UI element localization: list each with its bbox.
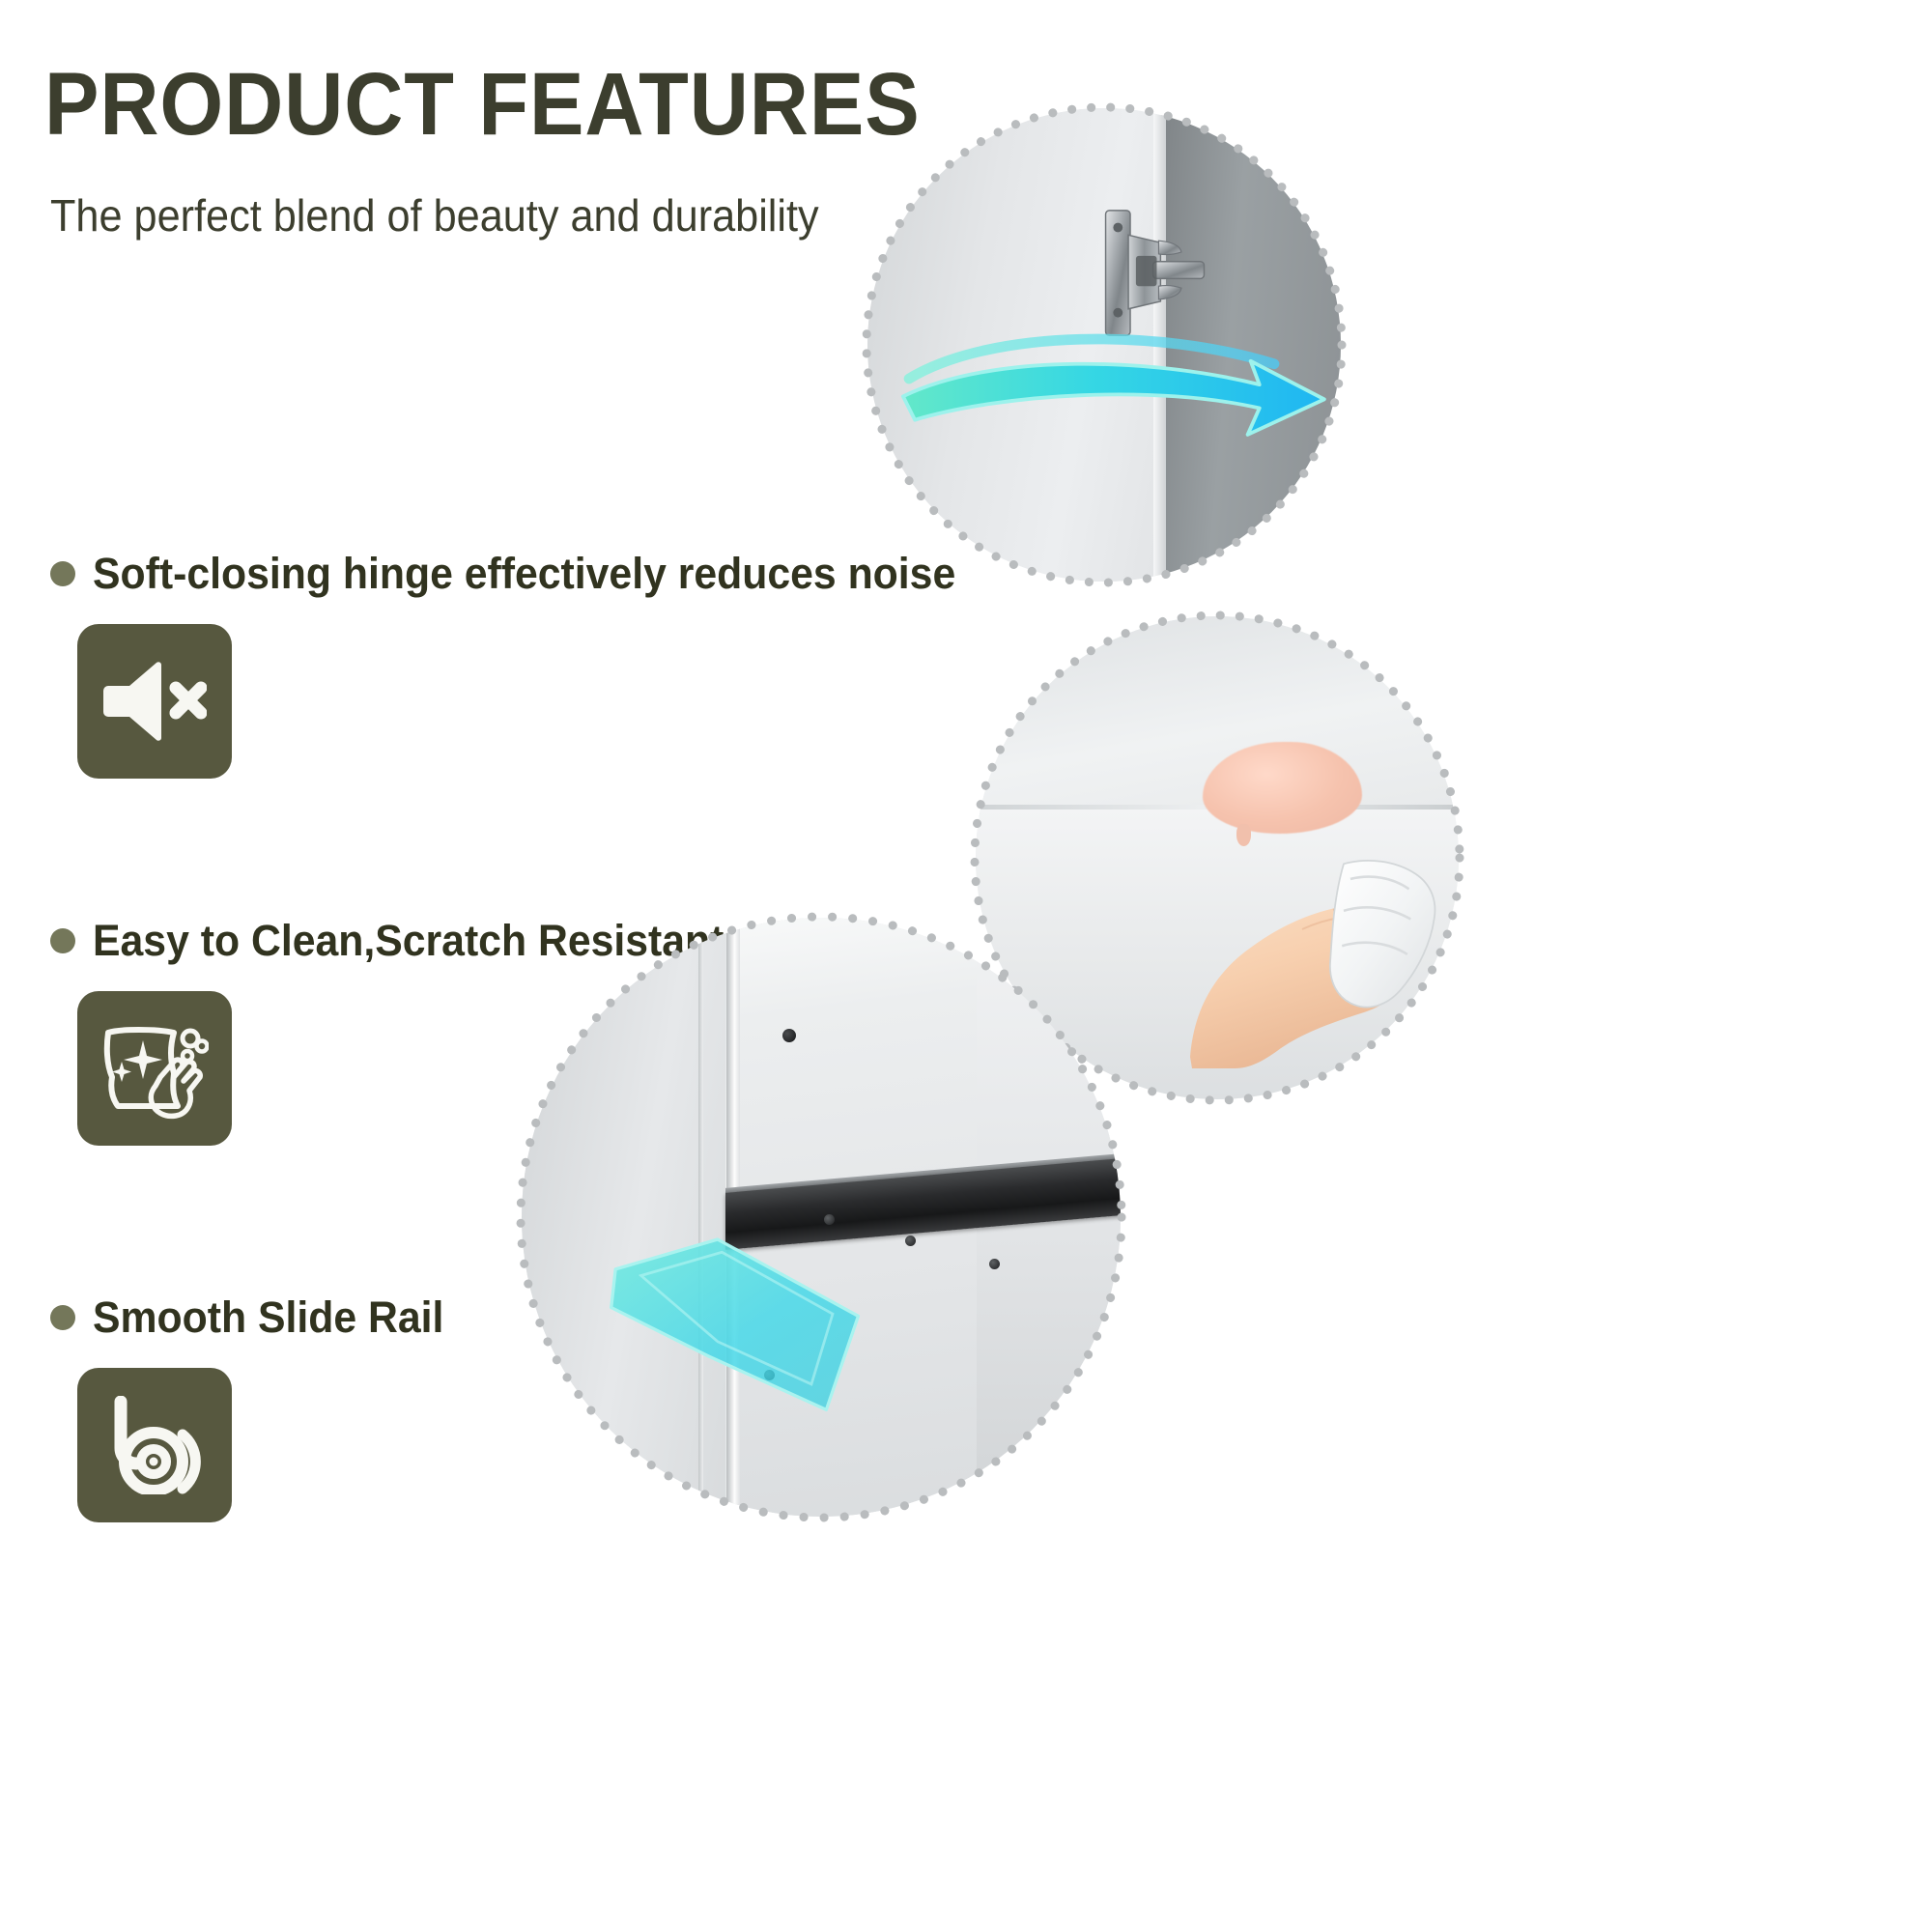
cabinet-side-panel [522,918,725,1517]
feature-icon-tile [77,991,232,1146]
rail-photo [522,918,1121,1517]
product-features-infographic: PRODUCT FEATURES The perfect blend of be… [0,0,1932,1932]
panel-seam [698,918,704,1517]
cleaning-cloth [1319,853,1444,1017]
cyan-chevron-arrow [593,1229,881,1420]
page-title: PRODUCT FEATURES [44,60,921,149]
roller-wheel-icon [103,1396,206,1494]
bullet-point-icon [50,928,75,953]
feature-icon-tile [77,624,232,779]
rail-screw-icon [824,1214,835,1225]
hinge-photo [867,108,1341,582]
bullet-point-icon [50,1305,75,1330]
cyan-swoosh-arrow [887,317,1332,449]
feature-icon-tile [77,1368,232,1522]
page-subtitle: The perfect blend of beauty and durabili… [50,189,819,241]
speaker-mute-icon [102,655,207,748]
feature-item-smooth-slide-rail: Smooth Slide Rail [50,1293,463,1522]
bullet-point-icon [50,561,75,586]
feature-label: Soft-closing hinge effectively reduces n… [93,549,955,599]
feature-heading: Smooth Slide Rail [50,1293,463,1343]
sparkle-wipe-hand-icon [100,1017,209,1120]
cam-lock-hole [782,1029,796,1042]
feature-label: Smooth Slide Rail [93,1293,443,1343]
rail-screw-icon [905,1236,916,1246]
feature-item-soft-closing-hinge: Soft-closing hinge effectively reduces n… [50,549,1001,779]
feature-heading: Soft-closing hinge effectively reduces n… [50,549,1001,599]
rail-screw-icon [989,1259,1000,1269]
